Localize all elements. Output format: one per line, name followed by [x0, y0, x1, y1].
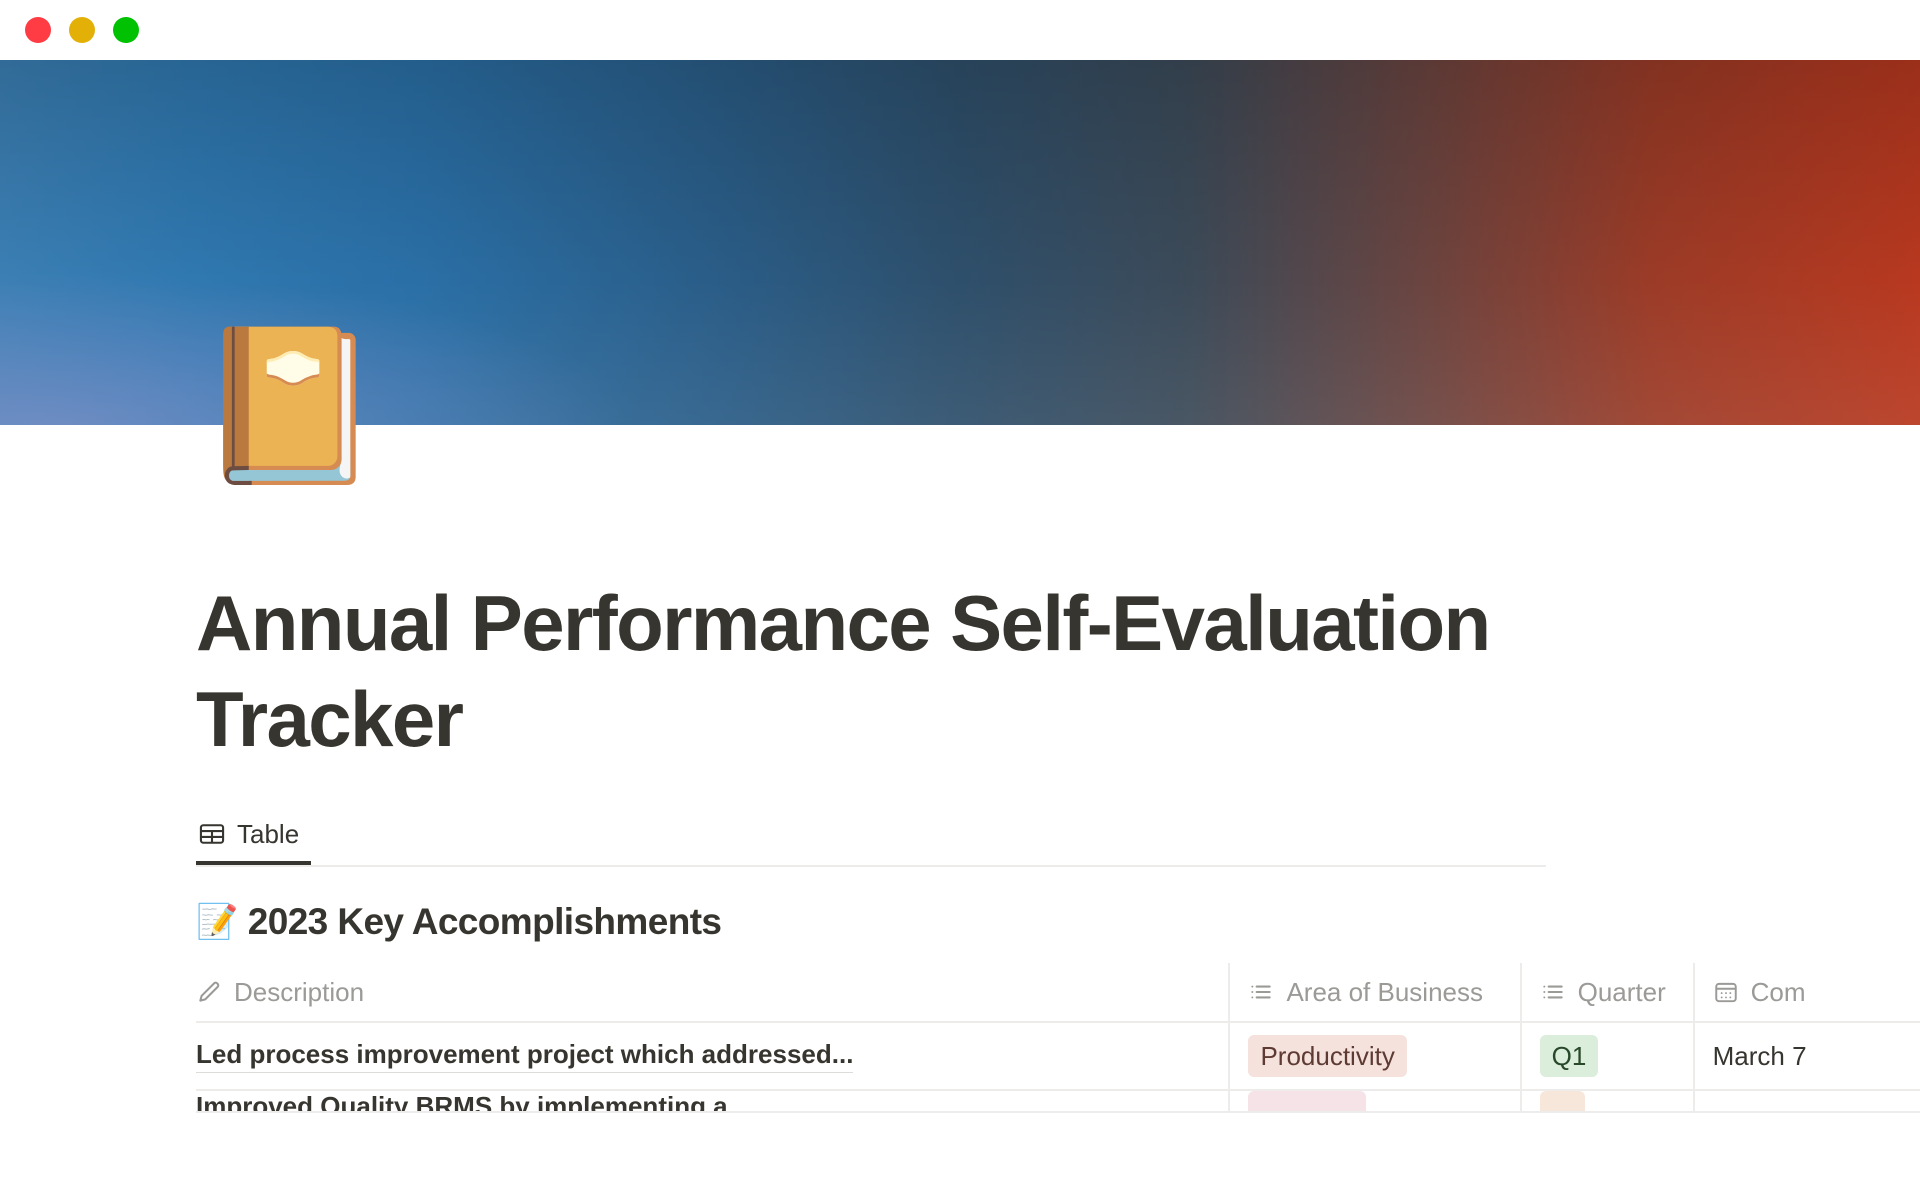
tag-quarter[interactable] — [1540, 1091, 1586, 1113]
column-header-completed[interactable]: Com — [1693, 963, 1920, 1021]
window-titlebar — [0, 0, 1920, 60]
section-heading[interactable]: 📝 2023 Key Accomplishments — [196, 901, 1920, 943]
column-header-area-of-business[interactable]: Area of Business — [1228, 963, 1519, 1021]
app-window: 📔 Annual Performance Self-Evaluation Tra… — [0, 0, 1920, 1200]
column-header-description-label: Description — [234, 977, 364, 1008]
memo-emoji-icon: 📝 — [196, 905, 238, 939]
cell-quarter[interactable]: Q1 — [1520, 1023, 1693, 1089]
section-heading-label: 2023 Key Accomplishments — [248, 901, 722, 943]
calendar-icon — [1713, 979, 1739, 1005]
cell-description[interactable]: Led process improvement project which ad… — [196, 1023, 1228, 1089]
view-tabbar: Table — [196, 807, 1546, 867]
notebook-emoji-icon[interactable]: 📔 — [196, 330, 383, 480]
row-title-link[interactable]: Led process improvement project which ad… — [196, 1039, 853, 1073]
cell-area-of-business[interactable] — [1228, 1091, 1519, 1113]
page-content: Annual Performance Self-Evaluation Track… — [196, 575, 1920, 1113]
cell-quarter[interactable] — [1520, 1091, 1693, 1113]
maximize-window-button[interactable] — [113, 17, 139, 43]
page-title[interactable]: Annual Performance Self-Evaluation Track… — [196, 575, 1596, 767]
cell-area-of-business[interactable]: Productivity — [1228, 1023, 1519, 1089]
cell-completed-date[interactable] — [1693, 1091, 1920, 1113]
database-table: Description — [196, 963, 1920, 1113]
cell-completed-date[interactable]: March 7 — [1693, 1023, 1920, 1089]
column-header-area-label: Area of Business — [1286, 977, 1483, 1008]
tag-area-of-business[interactable] — [1248, 1091, 1366, 1113]
column-header-completed-label: Com — [1751, 977, 1806, 1008]
cell-description[interactable]: Improved Quality BRMS by implementing a … — [196, 1091, 1228, 1113]
list-icon — [1248, 979, 1274, 1005]
close-window-button[interactable] — [25, 17, 51, 43]
tag-area-of-business[interactable]: Productivity — [1248, 1035, 1406, 1077]
traffic-light-group — [25, 17, 139, 43]
tab-table-label: Table — [237, 819, 299, 850]
column-header-quarter-label: Quarter — [1578, 977, 1666, 1008]
completed-date-value: March 7 — [1713, 1041, 1807, 1072]
row-title-link[interactable]: Improved Quality BRMS by implementing a … — [196, 1091, 757, 1113]
table-row[interactable]: Led process improvement project which ad… — [196, 1023, 1920, 1091]
tag-quarter[interactable]: Q1 — [1540, 1035, 1599, 1077]
column-header-description[interactable]: Description — [196, 963, 1228, 1021]
tab-table[interactable]: Table — [196, 807, 311, 865]
table-header-row: Description — [196, 963, 1920, 1023]
minimize-window-button[interactable] — [69, 17, 95, 43]
page-body: Annual Performance Self-Evaluation Track… — [0, 425, 1920, 1200]
column-header-quarter[interactable]: Quarter — [1520, 963, 1693, 1021]
table-icon — [198, 820, 226, 848]
table-row[interactable]: Improved Quality BRMS by implementing a … — [196, 1091, 1920, 1113]
pencil-icon — [196, 979, 222, 1005]
list-icon — [1540, 979, 1566, 1005]
